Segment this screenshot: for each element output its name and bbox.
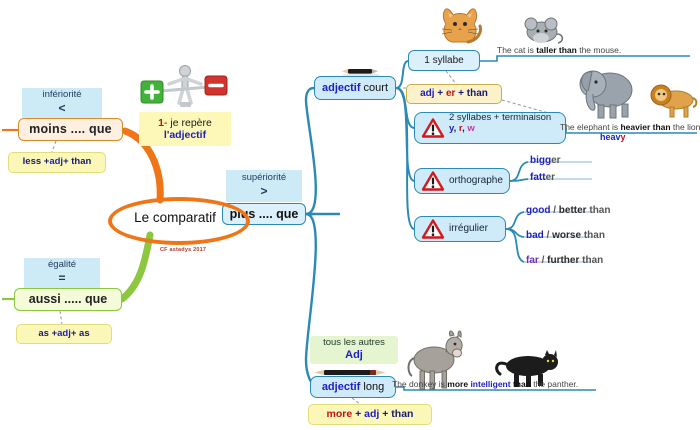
cat-mouse-post: the mouse. xyxy=(577,45,621,55)
good-than: than xyxy=(589,205,610,216)
heavy-stem: heav xyxy=(600,132,621,142)
bad-comp: worse xyxy=(552,230,581,241)
balance-figure-icon xyxy=(139,62,231,112)
superiority-symbol: > xyxy=(260,185,267,199)
irregular-example-good: good / better than xyxy=(526,205,610,216)
far-than: than xyxy=(582,255,603,266)
long-formula-than: + than xyxy=(379,408,413,420)
one-syllable-label: 1 syllabe xyxy=(424,55,463,67)
long-adjective-label-bold: adjectif xyxy=(322,381,361,393)
equality-formula-post: + as xyxy=(71,329,90,340)
equality-symbol: = xyxy=(58,272,65,286)
equality-formula-pre: as + xyxy=(38,329,57,340)
irregular-example-bad: bad / worse than xyxy=(526,230,605,241)
credit-watermark: CF astadys 2017 xyxy=(160,247,206,253)
warning-triangle-icon xyxy=(421,118,445,139)
spelling-label: orthographe xyxy=(449,175,503,187)
step-text: - je repère xyxy=(164,117,212,129)
spelling-node[interactable]: orthographe xyxy=(414,168,510,194)
elephant-lion-post: the lion. xyxy=(671,122,700,132)
short-pencil-icon xyxy=(340,64,382,74)
equality-formula-adj: adj xyxy=(57,329,71,340)
short-adjective-node[interactable]: adjectif court xyxy=(314,76,396,100)
ending-w: w xyxy=(467,123,474,134)
warning-triangle-icon xyxy=(421,219,445,240)
equality-label: aussi ..... que xyxy=(29,292,108,306)
equality-header-label: égalité xyxy=(48,260,76,271)
bad-base: bad xyxy=(526,230,544,241)
cat-image xyxy=(432,4,484,46)
elephant-lion-caption: The elephant is heavier than the lion. xyxy=(560,122,700,132)
elephant-lion-pre: The elephant is xyxy=(560,122,620,132)
long-adjective-note-line2: Adj xyxy=(345,349,363,362)
good-base: good xyxy=(526,205,550,216)
rule-er: er xyxy=(446,88,455,99)
central-node[interactable]: Le comparatif xyxy=(113,202,237,232)
ending-y: y xyxy=(449,123,454,134)
step-object: l'adjectif xyxy=(164,129,206,141)
inferiority-formula-pre: less + xyxy=(23,157,50,168)
long-adjective-formula: more + adj + than xyxy=(308,404,432,425)
donkey-panther-bold2: than xyxy=(511,379,531,389)
inferiority-header: infériorité < xyxy=(22,88,102,118)
rule-adj-er-than-node: adj + er + than xyxy=(406,84,502,104)
irregular-node[interactable]: irrégulier xyxy=(414,216,506,242)
equality-header: égalité = xyxy=(24,258,100,288)
two-syllables-endings: y, r, w xyxy=(449,124,475,135)
inferiority-formula-post: + than xyxy=(63,157,91,168)
fatter-suffix: er xyxy=(546,172,555,183)
long-formula-adj: adj xyxy=(364,408,379,420)
good-comp: better xyxy=(559,205,587,216)
elephant-lion-bold: heavier than xyxy=(620,122,670,132)
rule-than: + than xyxy=(455,88,488,99)
mindmap-canvas: Le comparatif CF astadys 2017 1- je repè… xyxy=(0,0,700,430)
bigger-stem: bigg xyxy=(530,155,551,166)
inferiority-label: moins .... que xyxy=(29,122,112,136)
irregular-example-far: far / further than xyxy=(526,255,603,266)
cat-mouse-pre: The cat is xyxy=(497,45,536,55)
far-comp: further xyxy=(547,255,579,266)
cat-mouse-bold: taller than xyxy=(536,45,577,55)
bigger-suffix: er xyxy=(551,155,560,166)
cat-mouse-caption: The cat is taller than the mouse. xyxy=(497,45,621,55)
elephant-image xyxy=(578,62,640,120)
equality-formula: as + adj + as xyxy=(16,324,112,344)
donkey-panther-bold-blue: intelligent xyxy=(470,379,510,389)
donkey-panther-pre: The donkey is xyxy=(392,379,447,389)
long-formula-plus: + xyxy=(352,408,364,420)
inferiority-node[interactable]: moins .... que xyxy=(18,118,123,141)
long-adjective-note-line1: tous les autres xyxy=(323,338,385,349)
long-formula-more: more xyxy=(327,408,353,420)
step-1-line1: 1- je repère xyxy=(158,117,212,129)
short-adjective-label-rest: court xyxy=(361,82,389,94)
donkey-panther-post: the panther. xyxy=(531,379,578,389)
elephant-lion-base-adjective: heavy xyxy=(600,132,626,142)
ending-r: r xyxy=(459,123,462,134)
central-node-label: Le comparatif xyxy=(134,210,216,225)
bad-than: than xyxy=(584,230,605,241)
heavy-suffix: y xyxy=(621,132,626,142)
mouse-image xyxy=(520,12,566,46)
far-base: far xyxy=(526,255,539,266)
donkey-panther-caption: The donkey is more intelligent than the … xyxy=(392,379,578,389)
fatter-stem: fatt xyxy=(530,172,546,183)
short-adjective-label-bold: adjectif xyxy=(322,82,361,94)
long-adjective-node[interactable]: adjectif long xyxy=(310,376,396,398)
spelling-example-bigger: bigger xyxy=(530,155,561,166)
superiority-header: supériorité > xyxy=(226,170,302,202)
lion-image xyxy=(648,78,698,118)
step-1-note: 1- je repère l'adjectif xyxy=(139,112,231,146)
one-syllable-node[interactable]: 1 syllabe xyxy=(408,50,480,71)
long-adjective-note: tous les autres Adj xyxy=(310,336,398,364)
inferiority-header-label: infériorité xyxy=(42,90,81,101)
inferiority-symbol: < xyxy=(58,102,65,116)
two-syllables-node[interactable]: 2 syllabes + terminaison y, r, w xyxy=(414,112,566,144)
rule-plus1: + xyxy=(435,88,446,99)
irregular-label: irrégulier xyxy=(449,223,488,235)
spelling-example-fatter: fatter xyxy=(530,172,555,183)
superiority-header-label: supériorité xyxy=(242,173,286,184)
donkey-panther-bold1: more xyxy=(447,379,470,389)
long-adjective-label-rest: long xyxy=(360,381,384,393)
equality-node[interactable]: aussi ..... que xyxy=(14,288,122,311)
warning-triangle-icon xyxy=(421,171,445,192)
rule-adj: adj xyxy=(420,88,434,99)
inferiority-formula-adj: adj xyxy=(49,157,63,168)
inferiority-formula: less + adj + than xyxy=(8,152,106,173)
